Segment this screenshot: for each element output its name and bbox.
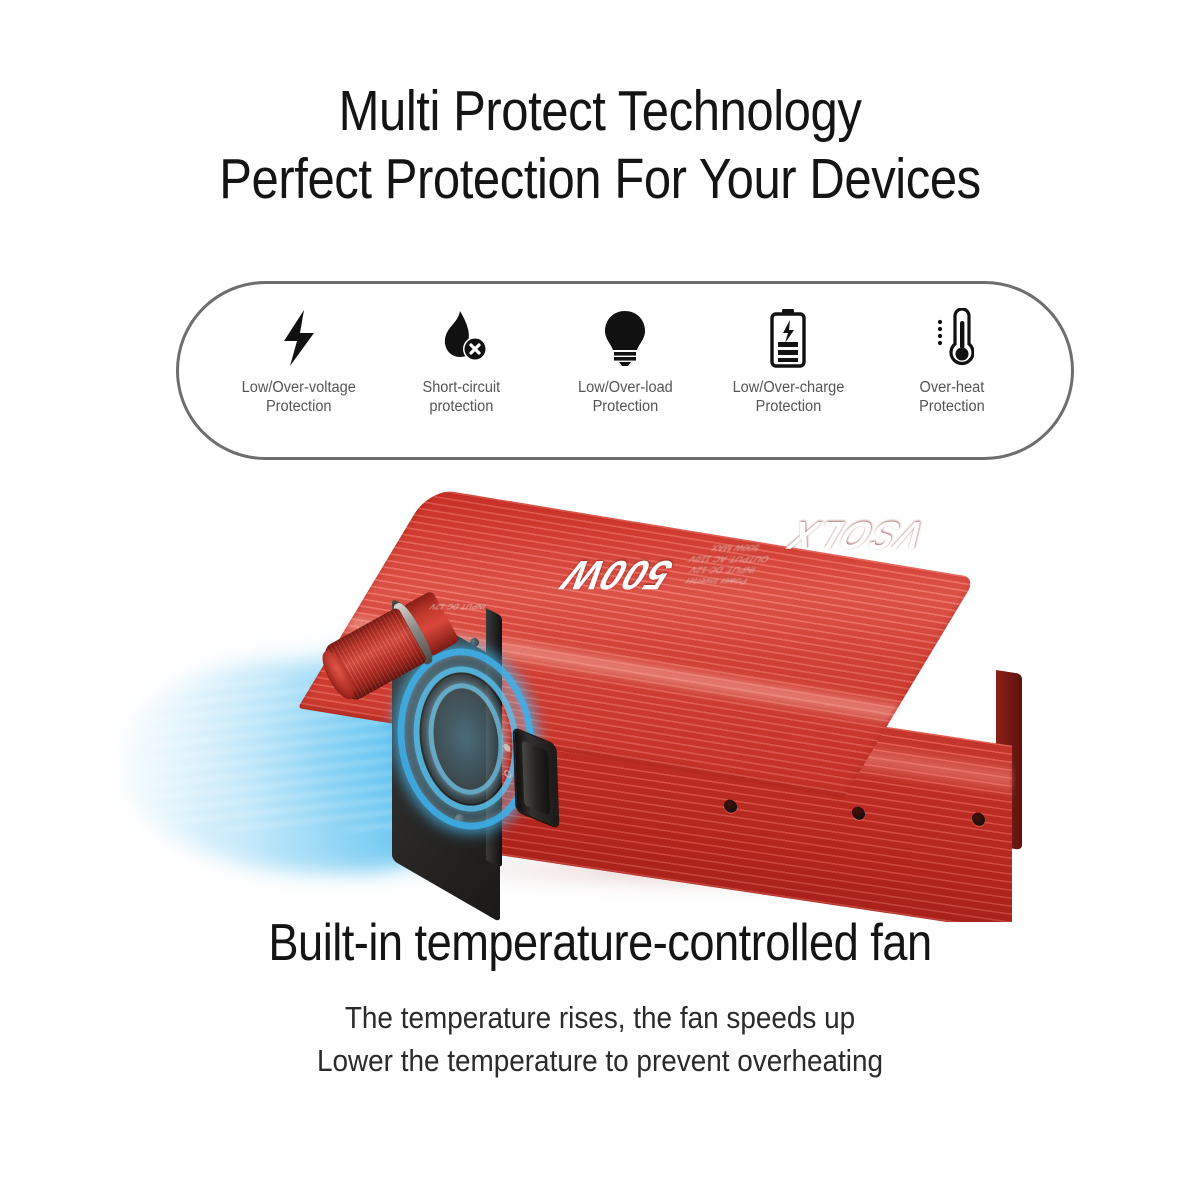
footer-subtitle-2: Lower the temperature to prevent overhea… [60,1039,1140,1082]
headline-line-2: Perfect Protection For Your Devices [84,144,1116,214]
battery-charge-icon [767,307,809,369]
feature-label: Over-heat Protection [919,378,985,416]
feature-short-circuit: Short-circuit protection [380,301,543,441]
thermometer-icon [928,307,974,369]
feature-over-heat: Over-heat Protection [870,301,1033,441]
product-marketing-image: Multi Protect Technology Perfect Protect… [0,0,1200,1200]
feature-label: Low/Over-load Protection [578,378,673,416]
feature-label: Low/Over-charge Protection [732,378,844,416]
footer-title: Built-in temperature-controlled fan [78,912,1122,974]
feature-label: Low/Over-voltage Protection [242,378,356,416]
feature-label: Short-circuit protection [423,378,501,416]
rocker-paddle[interactable] [522,740,550,816]
print-brand: VSOLX [777,512,935,557]
protection-features-panel: Low/Over-voltage Protection Short-circui… [176,281,1074,460]
lightbulb-icon [602,307,648,369]
print-input-port-label: INPUT DC 12V [427,602,488,611]
feature-low-over-load: Low/Over-load Protection [543,301,706,441]
lightning-bolt-icon [277,307,321,369]
feature-low-over-voltage: Low/Over-voltage Protection [217,301,380,441]
footer-subtitle-1: The temperature rises, the fan speeds up [60,996,1140,1039]
flame-blocked-icon [433,307,491,369]
product-hero: 500W VSOLX Power Inverter INPUT: DC 12V … [0,466,1200,922]
power-rocker-switch[interactable] [515,729,558,827]
headline-line-1: Multi Protect Technology [84,78,1116,144]
print-spec-block: Power Inverter INPUT: DC 12V OUTPUT: AC … [653,542,798,586]
headline-block: Multi Protect Technology Perfect Protect… [0,78,1200,214]
footer-block: Built-in temperature-controlled fan The … [0,912,1200,1082]
feature-low-over-charge: Low/Over-charge Protection [707,301,870,441]
